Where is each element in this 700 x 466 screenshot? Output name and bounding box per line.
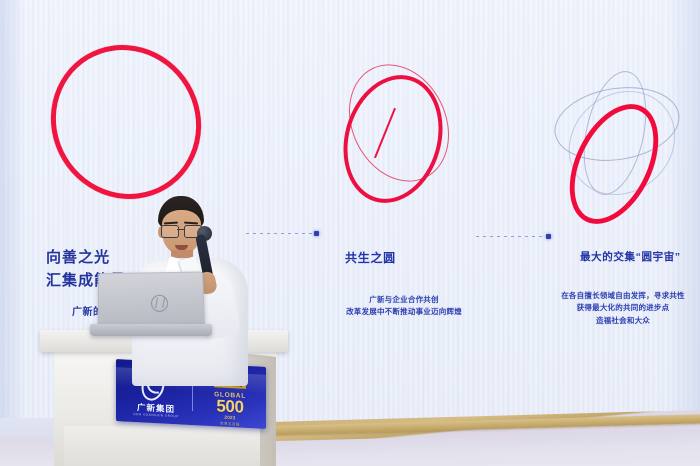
panel-3-subtitle-line-2: 获得最大化的共同的进步点: [549, 302, 697, 314]
podium-foot: [64, 426, 260, 466]
panel-3-subtitle-line-1: 在各自擅长领域自由发挥，寻求共性: [549, 290, 697, 302]
panel-2-subtitle-line-1: 广新与企业合作共创: [286, 294, 522, 306]
panel-2-subtitle-line-2: 改革发展中不断推动事业迈向辉煌: [286, 306, 522, 318]
glasses-icon: [161, 225, 202, 236]
wall-left-shadow: [0, 0, 26, 440]
panel-3-subtitle: 在各自擅长领域自由发挥，寻求共性 获得最大化的共同的进步点 造福社会和大众: [549, 290, 697, 327]
wall-right-shadow: [666, 0, 700, 430]
panel-3-subtitle-line-3: 造福社会和大众: [549, 315, 697, 327]
glasses-lens-left: [161, 225, 179, 238]
panel-2-caption: 共生之圆: [345, 249, 396, 266]
panel-2-subtitle: 广新与企业合作共创 改革发展中不断推动事业迈向辉煌: [286, 294, 522, 319]
presentation-photo: 向善之光 汇集成能量 广新的价 共生之圆 广新与企业合作共创 改革发展中不断推动…: [0, 0, 700, 466]
connector-node-1: [314, 231, 319, 236]
connector-line-2: [476, 236, 548, 237]
panel-3-caption: 最大的交集“圆宇宙”: [580, 249, 681, 264]
laptop-lid: [98, 271, 205, 329]
connector-node-2: [546, 234, 551, 239]
laptop: [88, 272, 216, 344]
glasses-bridge: [177, 229, 184, 230]
laptop-base: [90, 324, 212, 336]
laptop-logo-icon: [151, 295, 168, 312]
